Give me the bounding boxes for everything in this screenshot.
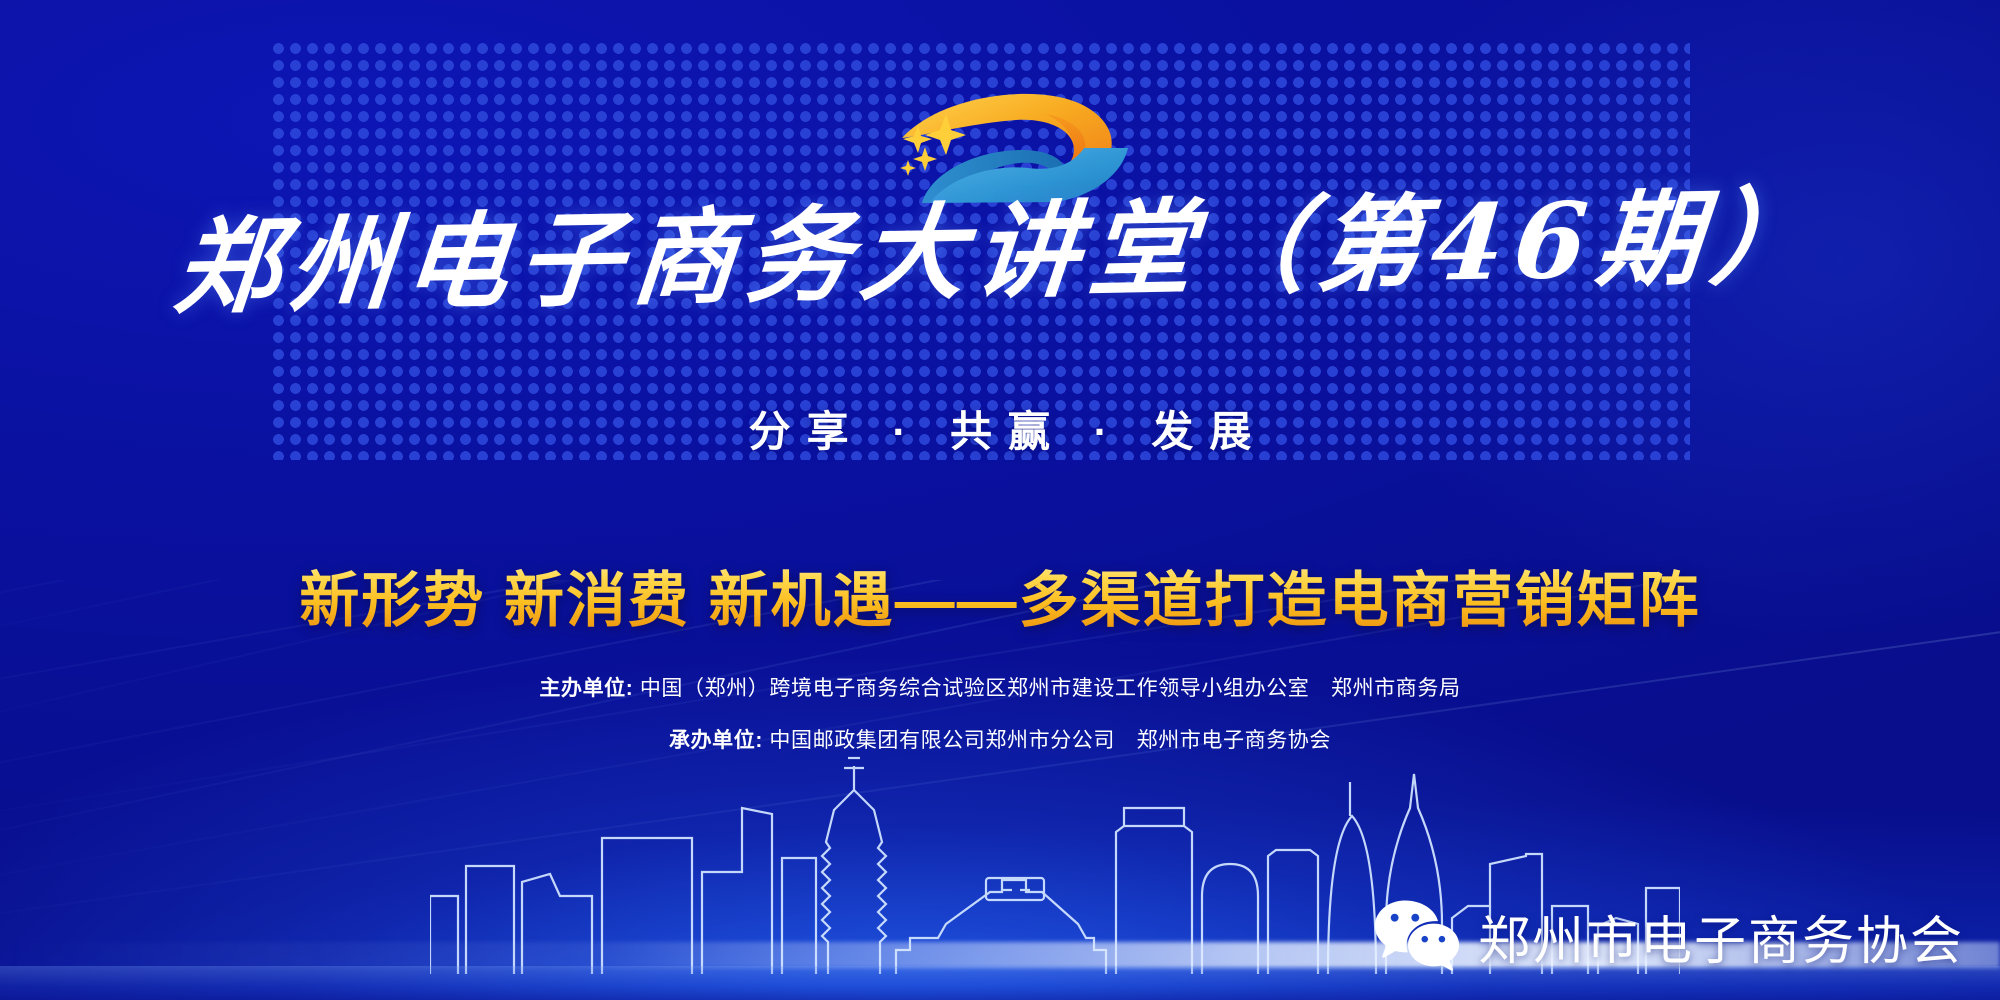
event-subtitle: 分享 · 共赢 · 发展 xyxy=(733,398,1268,459)
event-title: 郑州电子商务大讲堂（第46期） xyxy=(170,180,1829,324)
wechat-account-name: 郑州市电子商务协会 xyxy=(1478,899,1964,974)
co-organizer-row: 承办单位: 中国邮政集团有限公司郑州市分公司 郑州市电子商务协会 xyxy=(0,724,2000,754)
organizer-label: 主办单位: xyxy=(539,677,633,700)
subtitle-block: 分享 · 共赢 · 发展 xyxy=(0,398,2000,459)
poster-canvas: 郑州电子商务大讲堂（第46期） 分享 · 共赢 · 发展 新形势 新消费 新机遇… xyxy=(0,0,2000,1000)
co-organizer-label: 承办单位: xyxy=(669,729,763,752)
co-organizer-value: 中国邮政集团有限公司郑州市分公司 郑州市电子商务协会 xyxy=(769,729,1331,752)
organizer-block: 主办单位: 中国（郑州）跨境电子商务综合试验区郑州市建设工作领导小组办公室 郑州… xyxy=(0,672,2000,776)
event-logo xyxy=(870,78,1140,203)
event-theme: 新形势 新消费 新机遇——多渠道打造电商营销矩阵 xyxy=(299,552,1700,639)
title-block: 郑州电子商务大讲堂（第46期） xyxy=(0,196,2000,308)
theme-block: 新形势 新消费 新机遇——多渠道打造电商营销矩阵 xyxy=(0,552,2000,639)
wechat-badge[interactable]: 郑州市电子商务协会 xyxy=(1374,897,1964,976)
organizer-value: 中国（郑州）跨境电子商务综合试验区郑州市建设工作领导小组办公室 郑州市商务局 xyxy=(640,677,1461,700)
organizer-row: 主办单位: 中国（郑州）跨境电子商务综合试验区郑州市建设工作领导小组办公室 郑州… xyxy=(0,672,2000,702)
wechat-icon xyxy=(1374,897,1460,976)
